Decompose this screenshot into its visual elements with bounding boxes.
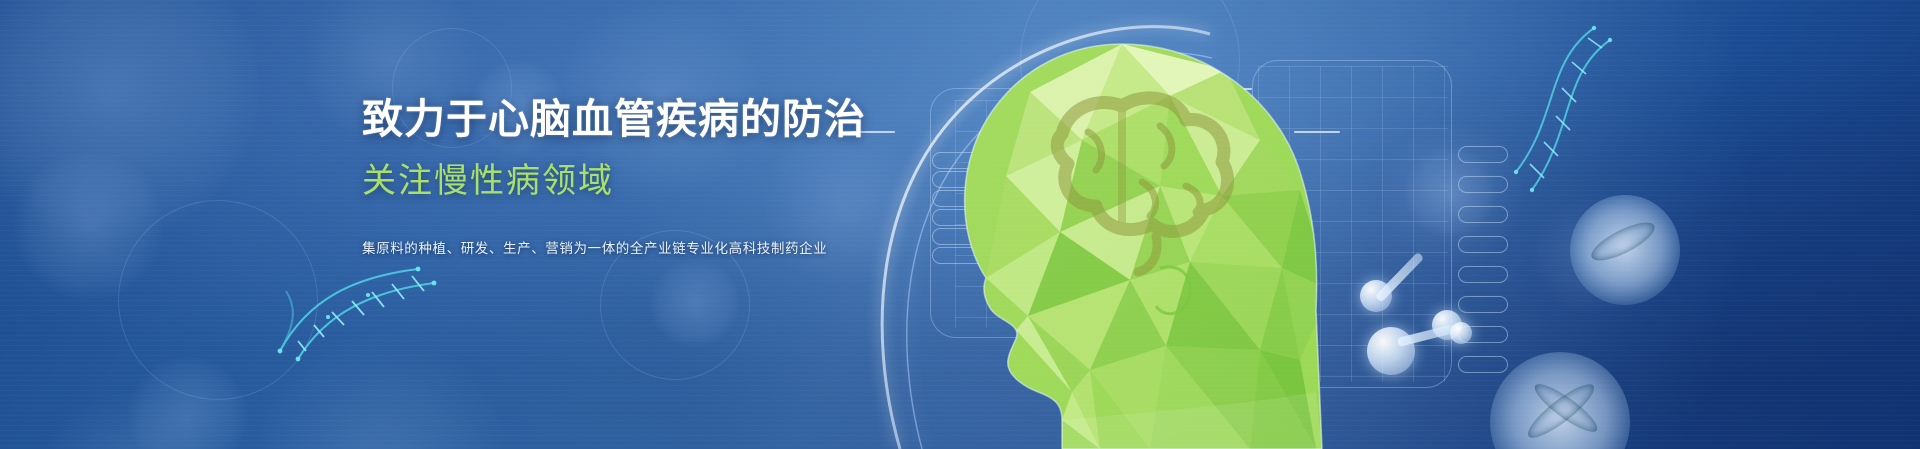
bokeh-circle [128, 356, 248, 449]
bokeh-circle [14, 150, 164, 300]
bokeh-circle [1020, 0, 1240, 170]
hud-bar [932, 152, 1004, 169]
hud-panel-right [1252, 60, 1452, 388]
hud-bar [1458, 236, 1508, 253]
hud-grid-right [1258, 66, 1448, 382]
banner-copy: 致力于心脑血管疾病的防治 关注慢性病领域 集原料的种植、研发、生产、营销为一体的… [362, 96, 792, 257]
hud-bar [1458, 206, 1508, 223]
dna-helix-left-icon [268, 255, 438, 365]
hud-bar [1458, 266, 1508, 283]
hud-bar [932, 247, 1004, 264]
molecule-node [1367, 327, 1415, 375]
low-poly-head-illustration [830, 0, 1470, 449]
molecule-bond [1397, 324, 1455, 347]
hud-bar [1458, 356, 1508, 373]
headline: 致力于心脑血管疾病的防治 [362, 96, 792, 144]
hud-panel-left [930, 88, 1250, 338]
glow-orb [1016, 218, 1062, 264]
hud-grid-left [955, 100, 1245, 328]
hud-tick [1152, 337, 1252, 339]
headline-part3: 的防治 [740, 96, 866, 142]
headline-part2: 心脑血管疾病 [488, 96, 740, 142]
hud-bar [932, 171, 1004, 188]
molecule-node [1450, 322, 1472, 344]
head-polygons [950, 30, 1350, 449]
hud-bar [932, 209, 1004, 226]
hud-tick [1152, 88, 1252, 90]
hud-tick [1294, 131, 1340, 133]
brain-icon [1057, 98, 1227, 272]
molecule-bond [1375, 252, 1425, 303]
hud-bar [932, 228, 1004, 245]
molecule-node [1360, 280, 1392, 312]
hud-bar [1458, 176, 1508, 193]
headline-part1: 致力于 [362, 96, 488, 142]
hud-bar [932, 190, 1004, 207]
hero-banner: 致力于心脑血管疾病的防治 关注慢性病领域 集原料的种植、研发、生产、营销为一体的… [0, 0, 1920, 449]
bokeh-circle [118, 200, 318, 400]
bokeh-circle [650, 258, 740, 348]
bacillus-icon [1522, 377, 1600, 445]
bokeh-circle [0, 0, 260, 240]
bacillus-icon [1529, 378, 1602, 439]
dna-helix-right-icon [1498, 22, 1618, 202]
subheadline: 关注慢性病领域 [362, 153, 792, 202]
bokeh-circle [1375, 120, 1525, 270]
bokeh-circle [40, 390, 220, 449]
molecule-node [1432, 310, 1462, 340]
hud-bar [1458, 146, 1508, 163]
bokeh-circle [1530, 196, 1650, 316]
ear [1156, 267, 1190, 314]
tagline: 集原料的种植、研发、生产、营销为一体的全产业链专业化高科技制药企业 [362, 237, 792, 257]
cell-bubble [1490, 352, 1630, 449]
bacillus-icon [1587, 215, 1660, 267]
bokeh-circle [1404, 146, 1496, 238]
hud-bar [1458, 296, 1508, 313]
hud-bar [1458, 326, 1508, 343]
bokeh-circle [250, 330, 510, 449]
cell-bubble [1570, 195, 1680, 305]
scanline-overlay [0, 0, 1920, 449]
